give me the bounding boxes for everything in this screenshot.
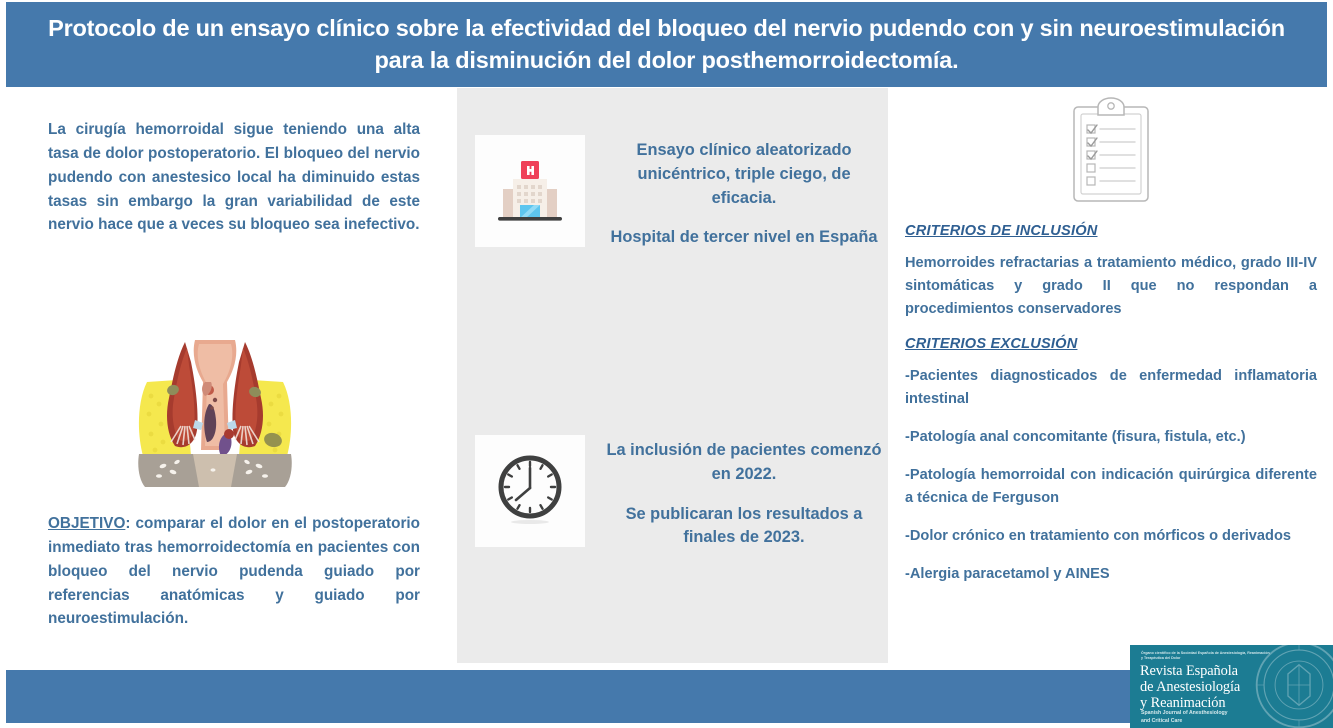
timeline-line1: La inclusión de pacientes comenzó en 202… — [603, 439, 885, 487]
timeline-line2: Se publicaran los resultados a finales d… — [603, 503, 885, 551]
objective-block: OBJETIVO: comparar el dolor en el postop… — [48, 512, 420, 631]
hemorrhoid-anatomy-image — [133, 338, 297, 491]
journal-logo: Órgano científico de la Sociedad Español… — [1130, 645, 1333, 728]
journal-micro-text: Órgano científico de la Sociedad Español… — [1141, 651, 1271, 662]
journal-subtitle-line1: Spanish Journal of Anesthesiology — [1141, 709, 1228, 717]
inclusion-criteria-heading: CRITERIOS DE INCLUSIÓN — [905, 223, 1317, 239]
journal-title-line2: de Anestesiología — [1140, 679, 1240, 695]
left-column: La cirugía hemorroidal sigue teniendo un… — [48, 118, 420, 237]
page-title: Protocolo de un ensayo clínico sobre la … — [32, 13, 1301, 75]
journal-subtitle-line2: and Critical Care — [1141, 717, 1228, 725]
exclusion-item: -Alergia paracetamol y AINES — [905, 563, 1317, 586]
middle-column: Ensayo clínico aleatorizado unicéntrico,… — [457, 88, 888, 663]
hemorrhoid-anatomy-cross-section-icon — [133, 338, 297, 491]
objective-label: OBJETIVO — [48, 515, 125, 532]
study-design-line1: Ensayo clínico aleatorizado unicéntrico,… — [603, 139, 885, 210]
right-column: CRITERIOS DE INCLUSIÓN Hemorroides refra… — [905, 92, 1317, 601]
clock-icon-card — [475, 435, 585, 547]
exclusion-item: -Pacientes diagnosticados de enfermedad … — [905, 365, 1317, 411]
exclusion-item: -Dolor crónico en tratamiento con mórfic… — [905, 525, 1317, 548]
study-design-text: Ensayo clínico aleatorizado unicéntrico,… — [585, 135, 885, 250]
hospital-icon-card — [475, 135, 585, 247]
journal-title: Revista Española de Anestesiología y Rea… — [1140, 663, 1240, 711]
clock-icon — [491, 450, 569, 532]
intro-paragraph: La cirugía hemorroidal sigue teniendo un… — [48, 118, 420, 237]
exclusion-item: -Patología hemorroidal con indicación qu… — [905, 464, 1317, 510]
journal-subtitle: Spanish Journal of Anesthesiology and Cr… — [1141, 709, 1228, 725]
timeline-block: La inclusión de pacientes comenzó en 202… — [475, 435, 885, 550]
poster-title-bar: Protocolo de un ensayo clínico sobre la … — [6, 2, 1327, 87]
exclusion-criteria-heading: CRITERIOS EXCLUSIÓN — [905, 336, 1317, 352]
journal-title-line1: Revista Española — [1140, 663, 1240, 679]
objective-paragraph: OBJETIVO: comparar el dolor en el postop… — [48, 512, 420, 631]
hospital-building-icon — [490, 151, 570, 231]
poster-footer-bar — [6, 670, 1327, 723]
objective-separator: : — [125, 515, 135, 532]
clipboard-checklist-icon — [1065, 97, 1157, 205]
exclusion-item: -Patología anal concomitante (fisura, fi… — [905, 426, 1317, 449]
study-design-block: Ensayo clínico aleatorizado unicéntrico,… — [475, 135, 885, 250]
inclusion-criteria-text: Hemorroides refractarias a tratamiento m… — [905, 252, 1317, 321]
study-design-line2: Hospital de tercer nivel en España — [603, 226, 885, 250]
timeline-text: La inclusión de pacientes comenzó en 202… — [585, 435, 885, 550]
clipboard-icon-wrap — [905, 92, 1317, 210]
